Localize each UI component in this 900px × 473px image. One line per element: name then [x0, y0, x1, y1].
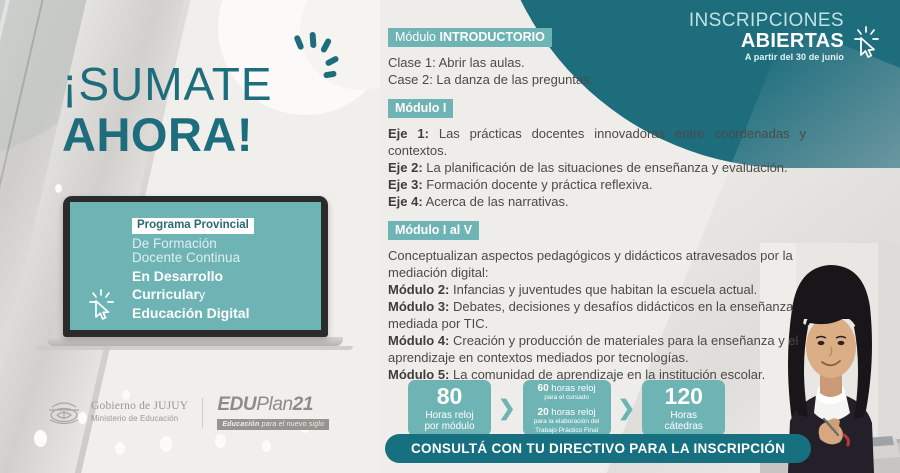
module-line-text: Formación docente y práctica reflexiva. — [423, 177, 653, 192]
module-line-text: La planificación de las situaciones de e… — [423, 160, 788, 175]
module-line-text: Las prácticas docentes innovadoras entre… — [388, 126, 806, 158]
module-line-text: Debates, decisiones y desafíos didáctico… — [388, 299, 793, 331]
hours-number: 120 — [665, 385, 703, 408]
headline-line-2: AHORA! — [62, 110, 273, 160]
module-badge-i-al-v: Módulo I al V — [388, 221, 479, 240]
inscriptions-text: INSCRIPCIONES ABIERTAS A partir del 30 d… — [689, 11, 844, 62]
module-line-label: Módulo 2: — [388, 282, 449, 297]
speck-dot — [55, 184, 62, 193]
headline-line-1: ¡SUMATE — [62, 60, 273, 108]
laptop-mockup: Programa Provincial De Formación Docente… — [63, 196, 328, 350]
hours-label-line-1: Horas reloj — [425, 410, 473, 421]
module-badge-introductorio: Módulo INTRODUCTORIO — [388, 28, 552, 47]
eduplan-plan: Plan — [256, 394, 292, 415]
module-line: Case 2: La danza de las preguntas. — [388, 71, 806, 88]
cta-button[interactable]: CONSULTÁ CON TU DIRECTIVO PARA LA INSCRI… — [385, 434, 811, 463]
click-burst-icon — [290, 32, 340, 80]
spacer — [388, 88, 806, 99]
inscriptions-line-1: INSCRIPCIONES — [689, 11, 844, 31]
module-line-label: Eje 2: — [388, 160, 423, 175]
hours-breakdown-unit: horas reloj — [549, 383, 596, 394]
module-line-label: Módulo 3: — [388, 299, 449, 314]
inscriptions-line-2: ABIERTAS — [689, 31, 844, 51]
module-line-label: Eje 3: — [388, 177, 423, 192]
module-badge-suffix: INTRODUCTORIO — [439, 30, 544, 44]
speck-dot — [160, 436, 172, 452]
hours-breakdown-unit: horas reloj — [549, 407, 596, 418]
hours-label: Horas reloj por módulo — [424, 410, 474, 432]
module-line: Módulo 3: Debates, decisiones y desafíos… — [388, 298, 806, 332]
hours-box-total: 120 Horas cátedras — [642, 380, 725, 436]
program-strong-3: Educación Digital — [132, 305, 315, 321]
inscriptions-banner: INSCRIPCIONES ABIERTAS A partir del 30 d… — [689, 11, 882, 62]
module-badge-prefix: Módulo — [395, 30, 439, 44]
chevron-right-icon: ❯ — [618, 398, 636, 419]
hours-label-line-1: Horas — [670, 410, 697, 421]
modules-body: Módulo INTRODUCTORIO Clase 1: Abrir las … — [388, 28, 806, 383]
jujuy-coat-of-arms-icon — [44, 398, 84, 428]
hours-box-per-module: 80 Horas reloj por módulo — [408, 380, 491, 436]
laptop-lid: Programa Provincial De Formación Docente… — [63, 196, 328, 337]
module-badge-i: Módulo I — [388, 99, 453, 118]
module-line: Eje 2: La planificación de las situacion… — [388, 159, 806, 176]
hours-box-breakdown: 60 horas reloj para el cursado 20 horas … — [523, 380, 611, 436]
program-subtitle-2: Docente Continua — [132, 251, 315, 266]
module-line-label: Módulo 4: — [388, 333, 449, 348]
inscriptions-date: A partir del 30 de junio — [689, 52, 844, 62]
logo-divider — [202, 398, 203, 428]
program-subtitle-1: De Formación — [132, 237, 315, 252]
government-ministry: Ministerio de Educación — [91, 413, 188, 425]
module-line-label: Eje 1: — [388, 126, 429, 141]
inscriptions-row: INSCRIPCIONES ABIERTAS A partir del 30 d… — [689, 11, 882, 62]
module-line: Eje 1: Las prácticas docentes innovadora… — [388, 125, 806, 159]
module-line-text: Acerca de las narrativas. — [423, 194, 569, 209]
program-badge: Programa Provincial — [132, 218, 254, 234]
poster-canvas: ¡SUMATE AHORA! Programa Prov — [0, 0, 900, 473]
module-intro-text: Conceptualizan aspectos pedagógicos y di… — [388, 247, 806, 281]
eduplan-tagline: Educación para el nuevo siglo — [217, 419, 329, 430]
module-line-text: Creación y producción de materiales para… — [388, 333, 798, 365]
speck-dot — [262, 440, 271, 452]
module-line-label: Eje 4: — [388, 194, 423, 209]
government-name: Gobierno de JUJUY — [91, 400, 188, 412]
cursor-click-icon — [87, 288, 117, 320]
module-line: Eje 4: Acerca de las narrativas. — [388, 193, 806, 210]
laptop-screen-text: Programa Provincial De Formación Docente… — [132, 215, 315, 321]
eduplan-logo: EDUPlan21 Educación para el nuevo siglo — [217, 395, 329, 430]
program-strong-2a: Curricular — [132, 286, 199, 302]
hours-breakdown-item-1: 60 horas reloj para el cursado — [538, 382, 596, 402]
eduplan-wordmark: EDUPlan21 — [217, 395, 329, 414]
laptop-base — [47, 337, 343, 346]
chevron-right-icon: ❯ — [498, 398, 516, 419]
hours-breakdown-number: 20 — [538, 407, 549, 418]
module-line: Eje 3: Formación docente y práctica refl… — [388, 176, 806, 193]
program-strong-2: Curriculary — [132, 286, 315, 303]
hours-breakdown-item-2: 20 horas reloj para la elaboración del T… — [534, 406, 600, 435]
hours-breakdown-sub: para el cursado — [538, 394, 596, 402]
speck-dot — [34, 430, 47, 447]
footer-logos: Gobierno de JUJUY Ministerio de Educació… — [44, 395, 329, 430]
hours-breakdown-sub-1: para la elaboración del — [534, 418, 600, 426]
eduplan-tag-bold: Educación — [222, 421, 259, 428]
cursor-click-icon — [852, 25, 882, 59]
module-line: Módulo 2: Infancias y juventudes que hab… — [388, 281, 806, 298]
hours-number: 80 — [437, 385, 463, 408]
module-line-text: Infancias y juventudes que habitan la es… — [449, 282, 757, 297]
eduplan-21: 21 — [293, 394, 313, 415]
headline: ¡SUMATE AHORA! — [62, 60, 273, 160]
module-line: Módulo 4: Creación y producción de mater… — [388, 332, 806, 366]
program-strong-1: En Desarrollo — [132, 268, 315, 284]
program-strong-2b: y — [199, 288, 205, 302]
hours-summary: 80 Horas reloj por módulo ❯ 60 horas rel… — [408, 380, 725, 436]
government-text: Gobierno de JUJUY Ministerio de Educació… — [91, 400, 188, 425]
hours-label-line-2: cátedras — [665, 421, 703, 432]
spacer — [388, 210, 806, 221]
laptop-base-foot — [37, 346, 353, 350]
laptop-screen: Programa Provincial De Formación Docente… — [70, 202, 321, 330]
eduplan-tag-rest: para el nuevo siglo — [260, 421, 325, 428]
hours-label: Horas cátedras — [665, 410, 703, 432]
eduplan-edu: EDU — [217, 394, 256, 415]
government-logo: Gobierno de JUJUY Ministerio de Educació… — [44, 398, 188, 428]
speck-dot — [215, 434, 226, 448]
hours-breakdown-number: 60 — [538, 383, 549, 394]
hours-label-line-2: por módulo — [424, 421, 474, 432]
speck-dot — [115, 442, 125, 455]
